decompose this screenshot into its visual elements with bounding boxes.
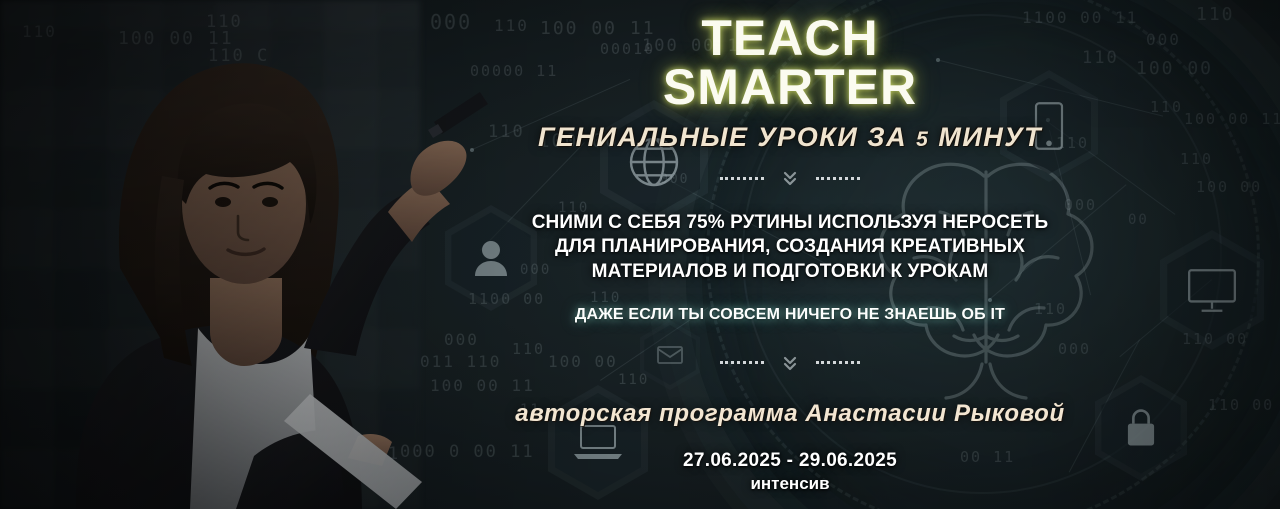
page-title: TEACH SMARTER <box>500 0 1080 112</box>
binary-digit-text: 110 00 <box>1182 330 1248 348</box>
chevron-down-icon <box>782 169 798 187</box>
presenter-photo <box>58 36 528 509</box>
binary-digit-text: 110 <box>1082 48 1119 68</box>
chevron-down-icon <box>782 354 798 372</box>
binary-digit-text: 100 00 <box>1136 58 1213 79</box>
divider-dash-left <box>720 361 764 364</box>
promo-banner: 110000110100 00 1100010100 00 111100 00 … <box>0 0 1280 509</box>
title-line-1: TEACH <box>701 10 878 66</box>
divider-bottom <box>500 352 1080 374</box>
binary-digit-text: 100 00 11 <box>1184 110 1280 128</box>
divider-dash-left <box>720 177 764 180</box>
divider-dash-right <box>816 177 860 180</box>
lead-text: СНИМИ С СЕБЯ 75% РУТИНЫ ИСПОЛЬЗУЯ НЕРОСЕ… <box>522 211 1058 284</box>
binary-digit-text: 110 00 <box>1208 396 1274 414</box>
banner-content: TEACH SMARTER ГЕНИАЛЬНЫЕ УРОКИ ЗА 5 МИНУ… <box>500 0 1080 509</box>
subtitle: ГЕНИАЛЬНЫЕ УРОКИ ЗА 5 МИНУТ <box>500 122 1080 153</box>
title-line-2: SMARTER <box>500 63 1080 112</box>
event-dates: 27.06.2025 - 29.06.2025 <box>500 450 1080 472</box>
binary-digit-text: 110 <box>1180 150 1213 168</box>
binary-digit-text: 110 <box>1150 98 1183 116</box>
divider-top <box>500 167 1080 189</box>
binary-digit-text: 110 <box>22 22 57 41</box>
divider-dash-right <box>816 361 860 364</box>
binary-digit-text: 110 <box>1196 4 1235 25</box>
binary-digit-text: 000 <box>430 10 472 34</box>
binary-digit-text: 000 <box>1146 30 1181 49</box>
subtitle-tail: МИНУТ <box>938 122 1042 152</box>
subtitle-number: 5 <box>916 128 929 151</box>
binary-digit-text: 00 <box>1128 212 1149 228</box>
sub-note-text: ДАЖЕ ЕСЛИ ТЫ СОВСЕМ НИЧЕГО НЕ ЗНАЕШЬ ОБ … <box>500 306 1080 324</box>
subtitle-main: ГЕНИАЛЬНЫЕ УРОКИ ЗА <box>538 122 907 152</box>
author-credit: авторская программа Анастасии Рыковой <box>500 400 1080 428</box>
event-format: интенсив <box>500 474 1080 494</box>
binary-digit-text: 100 00 <box>1196 178 1262 196</box>
